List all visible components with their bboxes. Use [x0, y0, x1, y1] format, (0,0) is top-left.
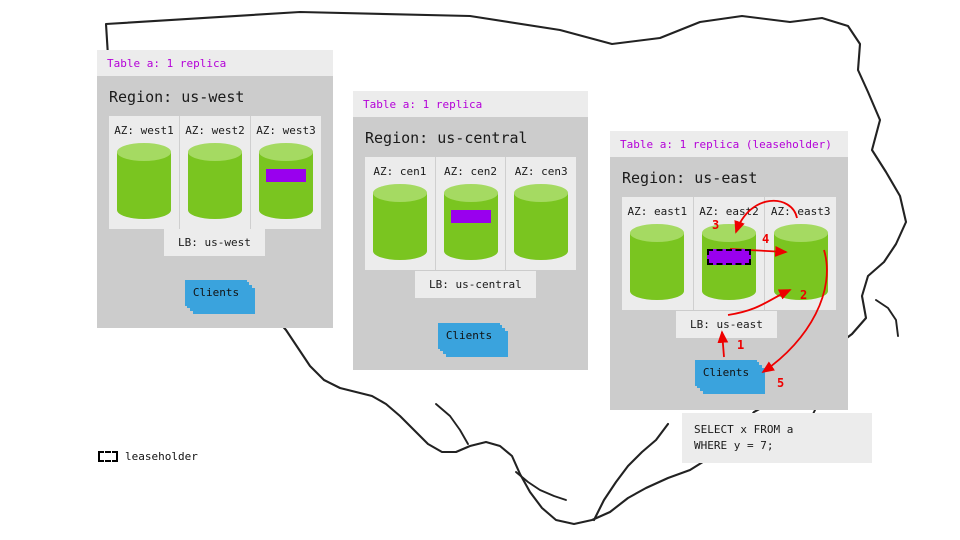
clients-label: Clients: [438, 323, 500, 349]
node-cylinder-icon: [630, 224, 684, 300]
region-title: Region: us-west: [97, 76, 333, 116]
region-header-label: Table a: 1 replica: [353, 91, 588, 117]
clients-label: Clients: [695, 360, 757, 386]
az-label: AZ: east1: [622, 205, 693, 218]
az-west2[interactable]: AZ: west2: [180, 116, 251, 229]
az-cen1[interactable]: AZ: cen1: [365, 157, 436, 270]
az-label: AZ: east2: [694, 205, 765, 218]
az-row: AZ: west1 AZ: west2 AZ: west3: [109, 116, 321, 229]
legend-label: leaseholder: [125, 450, 198, 463]
clients-us-central[interactable]: Clients: [438, 323, 510, 359]
load-balancer-us-central[interactable]: LB: us-central: [415, 271, 536, 298]
legend: leaseholder: [98, 450, 198, 463]
az-cen2[interactable]: AZ: cen2: [436, 157, 507, 270]
diagram-canvas: Table a: 1 replica Region: us-west AZ: w…: [0, 0, 960, 540]
region-header-label: Table a: 1 replica (leaseholder): [610, 131, 848, 157]
region-panel-us-east: Table a: 1 replica (leaseholder) Region:…: [610, 131, 848, 410]
clients-us-west[interactable]: Clients: [185, 280, 257, 316]
clients-us-east[interactable]: Clients: [695, 360, 767, 396]
region-panel-us-west: Table a: 1 replica Region: us-west AZ: w…: [97, 50, 333, 328]
node-cylinder-icon: [117, 143, 171, 219]
node-cylinder-icon: [702, 224, 756, 300]
az-label: AZ: cen1: [365, 165, 435, 178]
az-west3[interactable]: AZ: west3: [251, 116, 321, 229]
az-east1[interactable]: AZ: east1: [622, 197, 694, 310]
node-cylinder-icon: [259, 143, 313, 219]
az-east2[interactable]: AZ: east2: [694, 197, 766, 310]
az-label: AZ: west3: [251, 124, 321, 137]
node-cylinder-icon: [373, 184, 427, 260]
az-label: AZ: west1: [109, 124, 179, 137]
load-balancer-us-east[interactable]: LB: us-east: [676, 311, 777, 338]
az-label: AZ: cen2: [436, 165, 506, 178]
load-balancer-us-west[interactable]: LB: us-west: [164, 229, 265, 256]
sql-query-box: SELECT x FROM a WHERE y = 7;: [682, 413, 872, 463]
az-label: AZ: west2: [180, 124, 250, 137]
step-label-1: 1: [737, 338, 744, 352]
clients-label: Clients: [185, 280, 247, 306]
az-label: AZ: cen3: [506, 165, 576, 178]
node-cylinder-icon: [188, 143, 242, 219]
dashed-rect-icon: [98, 451, 118, 462]
step-label-3: 3: [712, 218, 719, 232]
node-cylinder-icon: [514, 184, 568, 260]
region-panel-us-central: Table a: 1 replica Region: us-central AZ…: [353, 91, 588, 370]
region-title: Region: us-east: [610, 157, 848, 197]
step-label-2: 2: [800, 288, 807, 302]
az-label: AZ: east3: [765, 205, 836, 218]
replica-marker: [451, 210, 491, 223]
step-label-4: 4: [762, 232, 769, 246]
region-header-label: Table a: 1 replica: [97, 50, 333, 76]
replica-marker: [266, 169, 306, 182]
az-row: AZ: cen1 AZ: cen2 AZ: cen3: [365, 157, 576, 270]
region-title: Region: us-central: [353, 117, 588, 157]
step-label-5: 5: [777, 376, 784, 390]
az-west1[interactable]: AZ: west1: [109, 116, 180, 229]
leaseholder-marker: [707, 249, 751, 265]
az-cen3[interactable]: AZ: cen3: [506, 157, 576, 270]
node-cylinder-icon: [444, 184, 498, 260]
